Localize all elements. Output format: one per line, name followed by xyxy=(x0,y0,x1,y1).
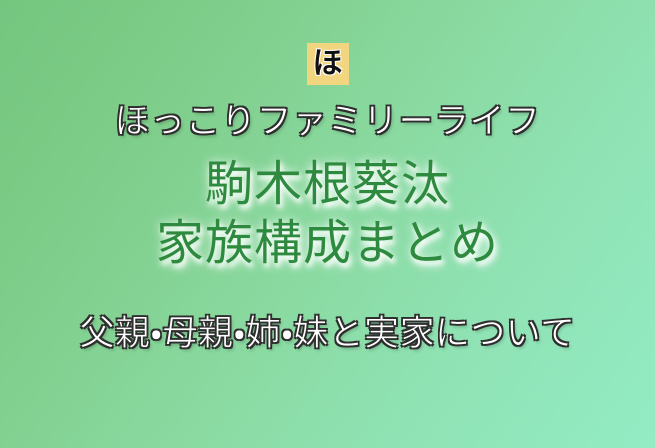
badge-container: ほ xyxy=(0,43,655,85)
eyecatch-card: ほ ほっこりファミリーライフ 駒木根葵汰 家族構成まとめ 父親・母親・姉・妹と実… xyxy=(0,0,655,448)
page-title: 駒木根葵汰 家族構成まとめ xyxy=(156,156,499,273)
site-initial-badge-icon: ほ xyxy=(307,43,349,85)
page-title-line-1: 駒木根葵汰 xyxy=(156,156,499,215)
site-name: ほっこりファミリーライフ xyxy=(114,101,540,142)
page-subtitle: 父親・母親・姉・妹と実家について xyxy=(50,311,606,358)
page-title-line-2: 家族構成まとめ xyxy=(156,215,499,274)
